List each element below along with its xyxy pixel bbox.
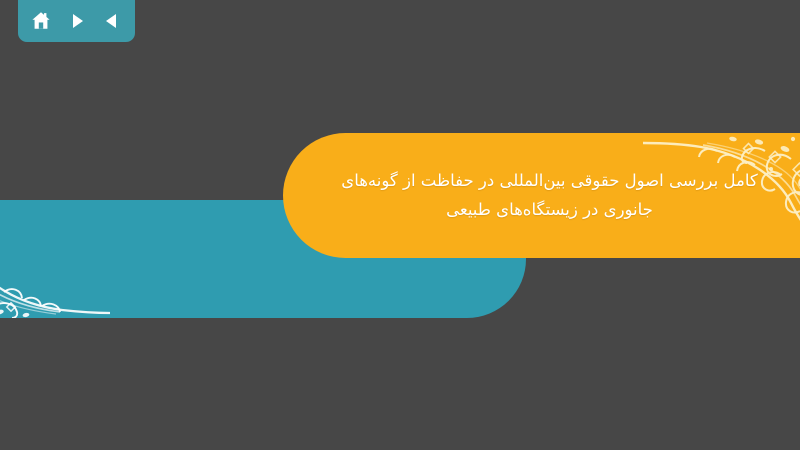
title-band-orange <box>283 133 800 258</box>
previous-slide-button[interactable] <box>99 8 125 34</box>
next-slide-button[interactable] <box>64 8 90 34</box>
arabesque-ornament-orange <box>643 133 800 258</box>
home-button[interactable] <box>28 8 54 34</box>
home-icon <box>30 10 52 32</box>
slide-navigation-bar <box>18 0 135 42</box>
triangle-left-icon <box>102 11 122 31</box>
presentation-slide: کامل بررسی اصول حقوقی بین‌المللی در حفاظ… <box>0 0 800 450</box>
triangle-right-icon <box>67 11 87 31</box>
arabesque-ornament-teal <box>0 200 110 318</box>
